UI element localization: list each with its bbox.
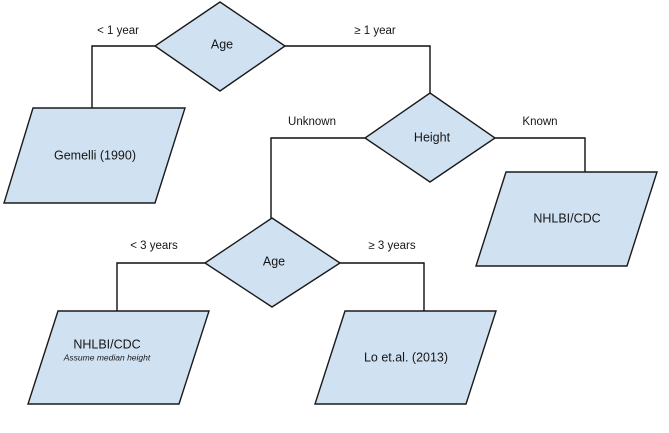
edge-label-at-least-1-year: ≥ 1 year — [354, 25, 396, 37]
connector-age-lower-to-lo — [340, 263, 424, 311]
node-nhlbi-known[interactable]: NHLBI/CDC — [476, 172, 657, 266]
age-top-label: Age — [211, 37, 233, 51]
edge-label-unknown: Unknown — [288, 116, 336, 128]
nhlbi-median-sublabel: Assume median height — [63, 352, 151, 362]
height-label: Height — [414, 130, 451, 144]
nhlbi-median-label: NHLBI/CDC — [73, 337, 140, 351]
edge-label-less-than-1-year: < 1 year — [97, 25, 139, 37]
nhlbi-known-label: NHLBI/CDC — [533, 211, 600, 225]
node-age-lower[interactable]: Age — [205, 218, 340, 307]
node-height[interactable]: Height — [365, 93, 495, 182]
connector-age-top-to-height — [285, 46, 430, 93]
connector-height-to-age-lower — [271, 138, 365, 218]
connector-age-lower-to-nhlbi-median — [117, 263, 205, 311]
lo-label: Lo et.al. (2013) — [364, 350, 448, 364]
edge-label-at-least-3-years: ≥ 3 years — [368, 240, 415, 252]
node-lo[interactable]: Lo et.al. (2013) — [315, 311, 496, 404]
node-age-top[interactable]: Age — [155, 2, 285, 91]
connector-age-top-to-gemelli — [92, 46, 155, 108]
connector-height-to-nhlbi-known — [495, 138, 585, 172]
gemelli-label: Gemelli (1990) — [54, 148, 136, 162]
node-gemelli[interactable]: Gemelli (1990) — [4, 108, 185, 203]
edge-label-less-than-3-years: < 3 years — [130, 240, 178, 252]
node-nhlbi-median[interactable]: NHLBI/CDC Assume median height — [28, 311, 209, 404]
age-lower-label: Age — [263, 254, 285, 268]
flowchart-canvas: Age Gemelli (1990) Height NHLBI/CDC Age … — [0, 0, 669, 433]
flowchart-svg: Age Gemelli (1990) Height NHLBI/CDC Age … — [0, 0, 669, 433]
edge-label-known: Known — [522, 116, 557, 128]
